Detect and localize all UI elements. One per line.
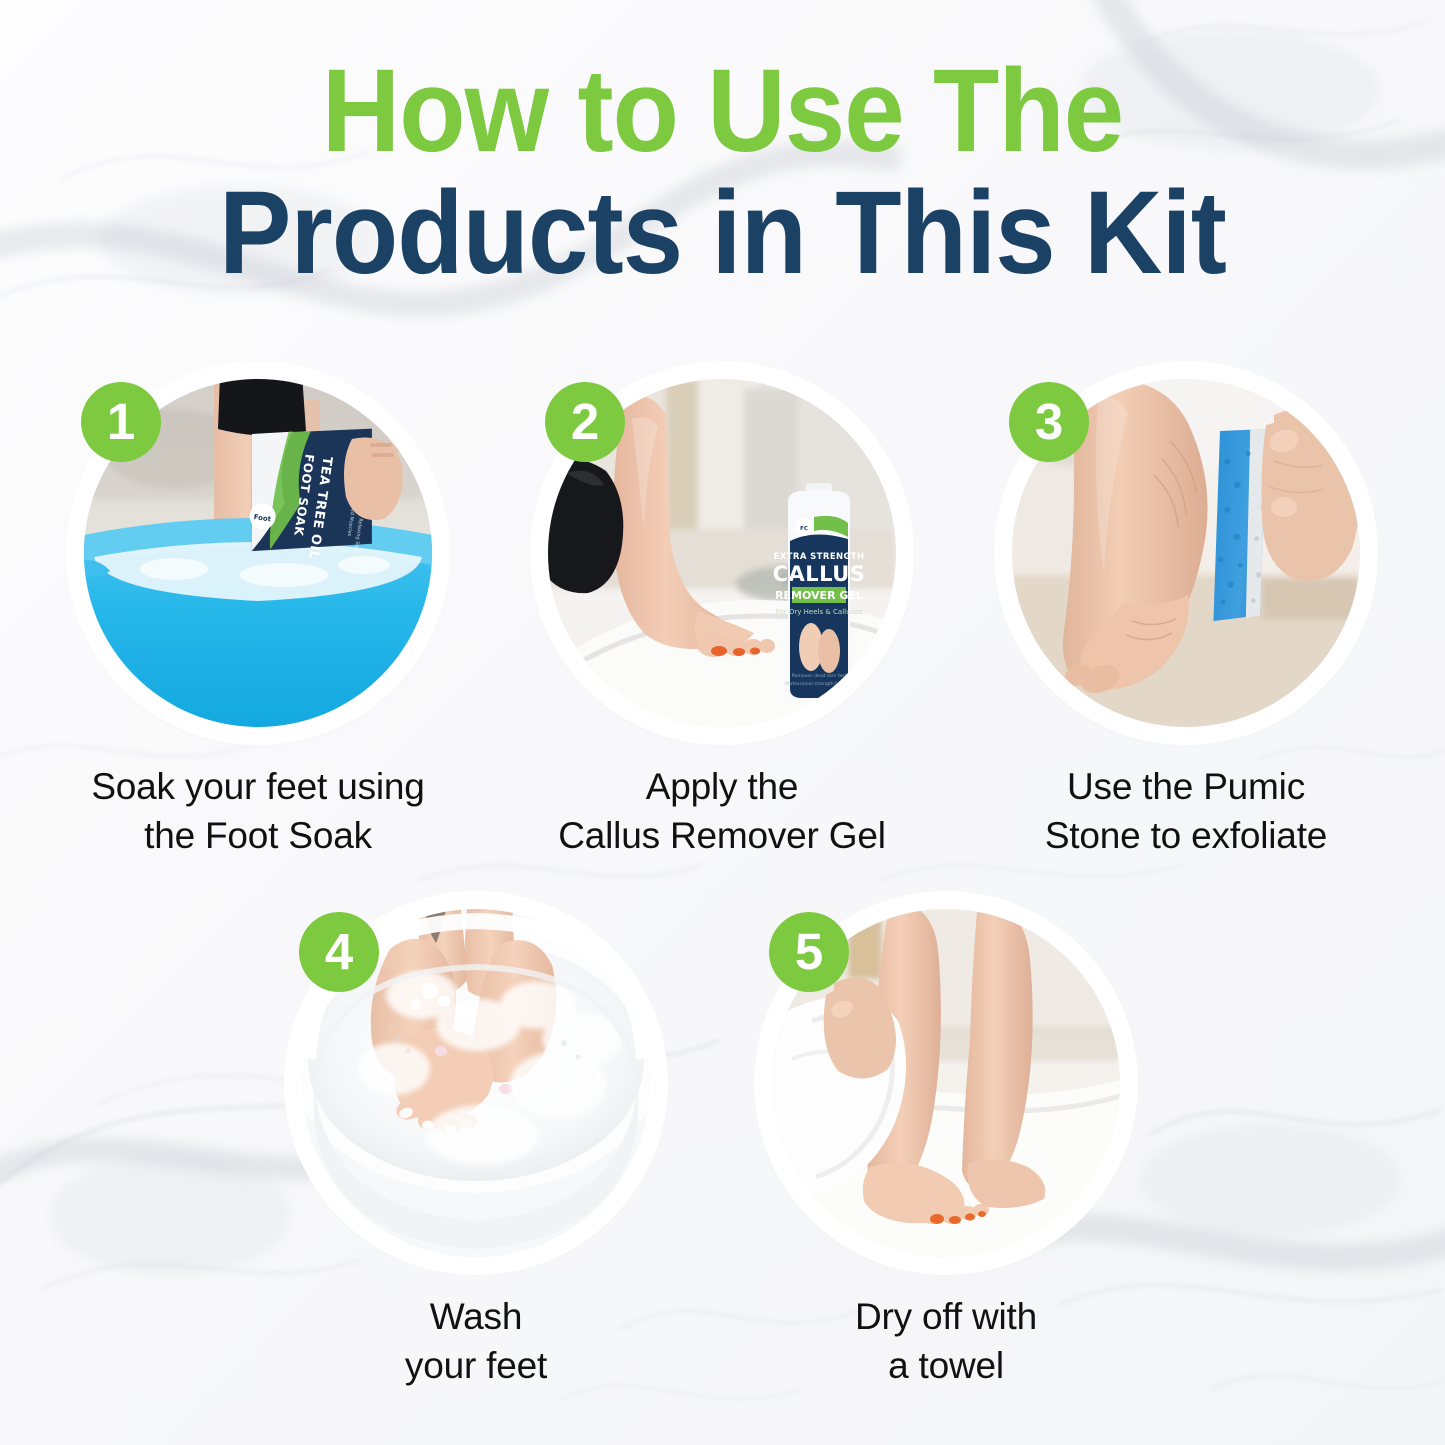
step-2-caption: Apply the Callus Remover Gel <box>502 762 942 860</box>
step-2-photo-circle: FC EXTRA STRENGTH CALLUS REMOVER GEL For… <box>539 370 905 736</box>
svg-text:FC: FC <box>800 526 808 532</box>
step-2-number-badge: 2 <box>545 382 625 462</box>
step-4-number-badge: 4 <box>299 912 379 992</box>
step-4-caption: Wash your feet <box>256 1292 696 1390</box>
svg-text:Professional strength formula: Professional strength formula <box>785 681 853 687</box>
infographic-page: How to Use The Products in This Kit <box>0 0 1445 1445</box>
step-5: 5 Dry off with a towel <box>763 900 1129 1266</box>
svg-text:For Dry Heels & Calluses: For Dry Heels & Calluses <box>776 608 863 616</box>
step-1-caption: Soak your feet using the Foot Soak <box>38 762 478 860</box>
page-title: How to Use The Products in This Kit <box>0 52 1445 292</box>
step-4: 4 Wash your feet <box>293 900 659 1266</box>
steps-row-top: TEA TREE OIL FOOT SOAK With Essential Oi… <box>0 370 1445 870</box>
svg-text:CALLUS: CALLUS <box>773 562 866 586</box>
step-3-number-badge: 3 <box>1009 382 1089 462</box>
step-1: TEA TREE OIL FOOT SOAK With Essential Oi… <box>75 370 441 736</box>
step-5-photo-circle: 5 <box>763 900 1129 1266</box>
step-3-caption: Use the Pumic Stone to exfoliate <box>966 762 1406 860</box>
title-line-1: How to Use The <box>58 52 1387 170</box>
title-line-2: Products in This Kit <box>58 174 1387 292</box>
step-5-caption: Dry off with a towel <box>726 1292 1166 1390</box>
svg-text:EXTRA STRENGTH: EXTRA STRENGTH <box>774 552 865 562</box>
step-1-photo-circle: TEA TREE OIL FOOT SOAK With Essential Oi… <box>75 370 441 736</box>
step-4-photo-circle: 4 <box>293 900 659 1266</box>
step-3: 3 Use the Pumic Stone to exfoliate <box>1003 370 1369 736</box>
svg-text:Removes dead skin fast: Removes dead skin fast <box>792 673 847 679</box>
step-3-photo-circle: 3 <box>1003 370 1369 736</box>
steps-row-bottom: 4 Wash your feet <box>0 900 1445 1420</box>
step-5-number-badge: 5 <box>769 912 849 992</box>
svg-text:REMOVER GEL: REMOVER GEL <box>775 589 863 602</box>
step-2: FC EXTRA STRENGTH CALLUS REMOVER GEL For… <box>539 370 905 736</box>
step-1-number-badge: 1 <box>81 382 161 462</box>
